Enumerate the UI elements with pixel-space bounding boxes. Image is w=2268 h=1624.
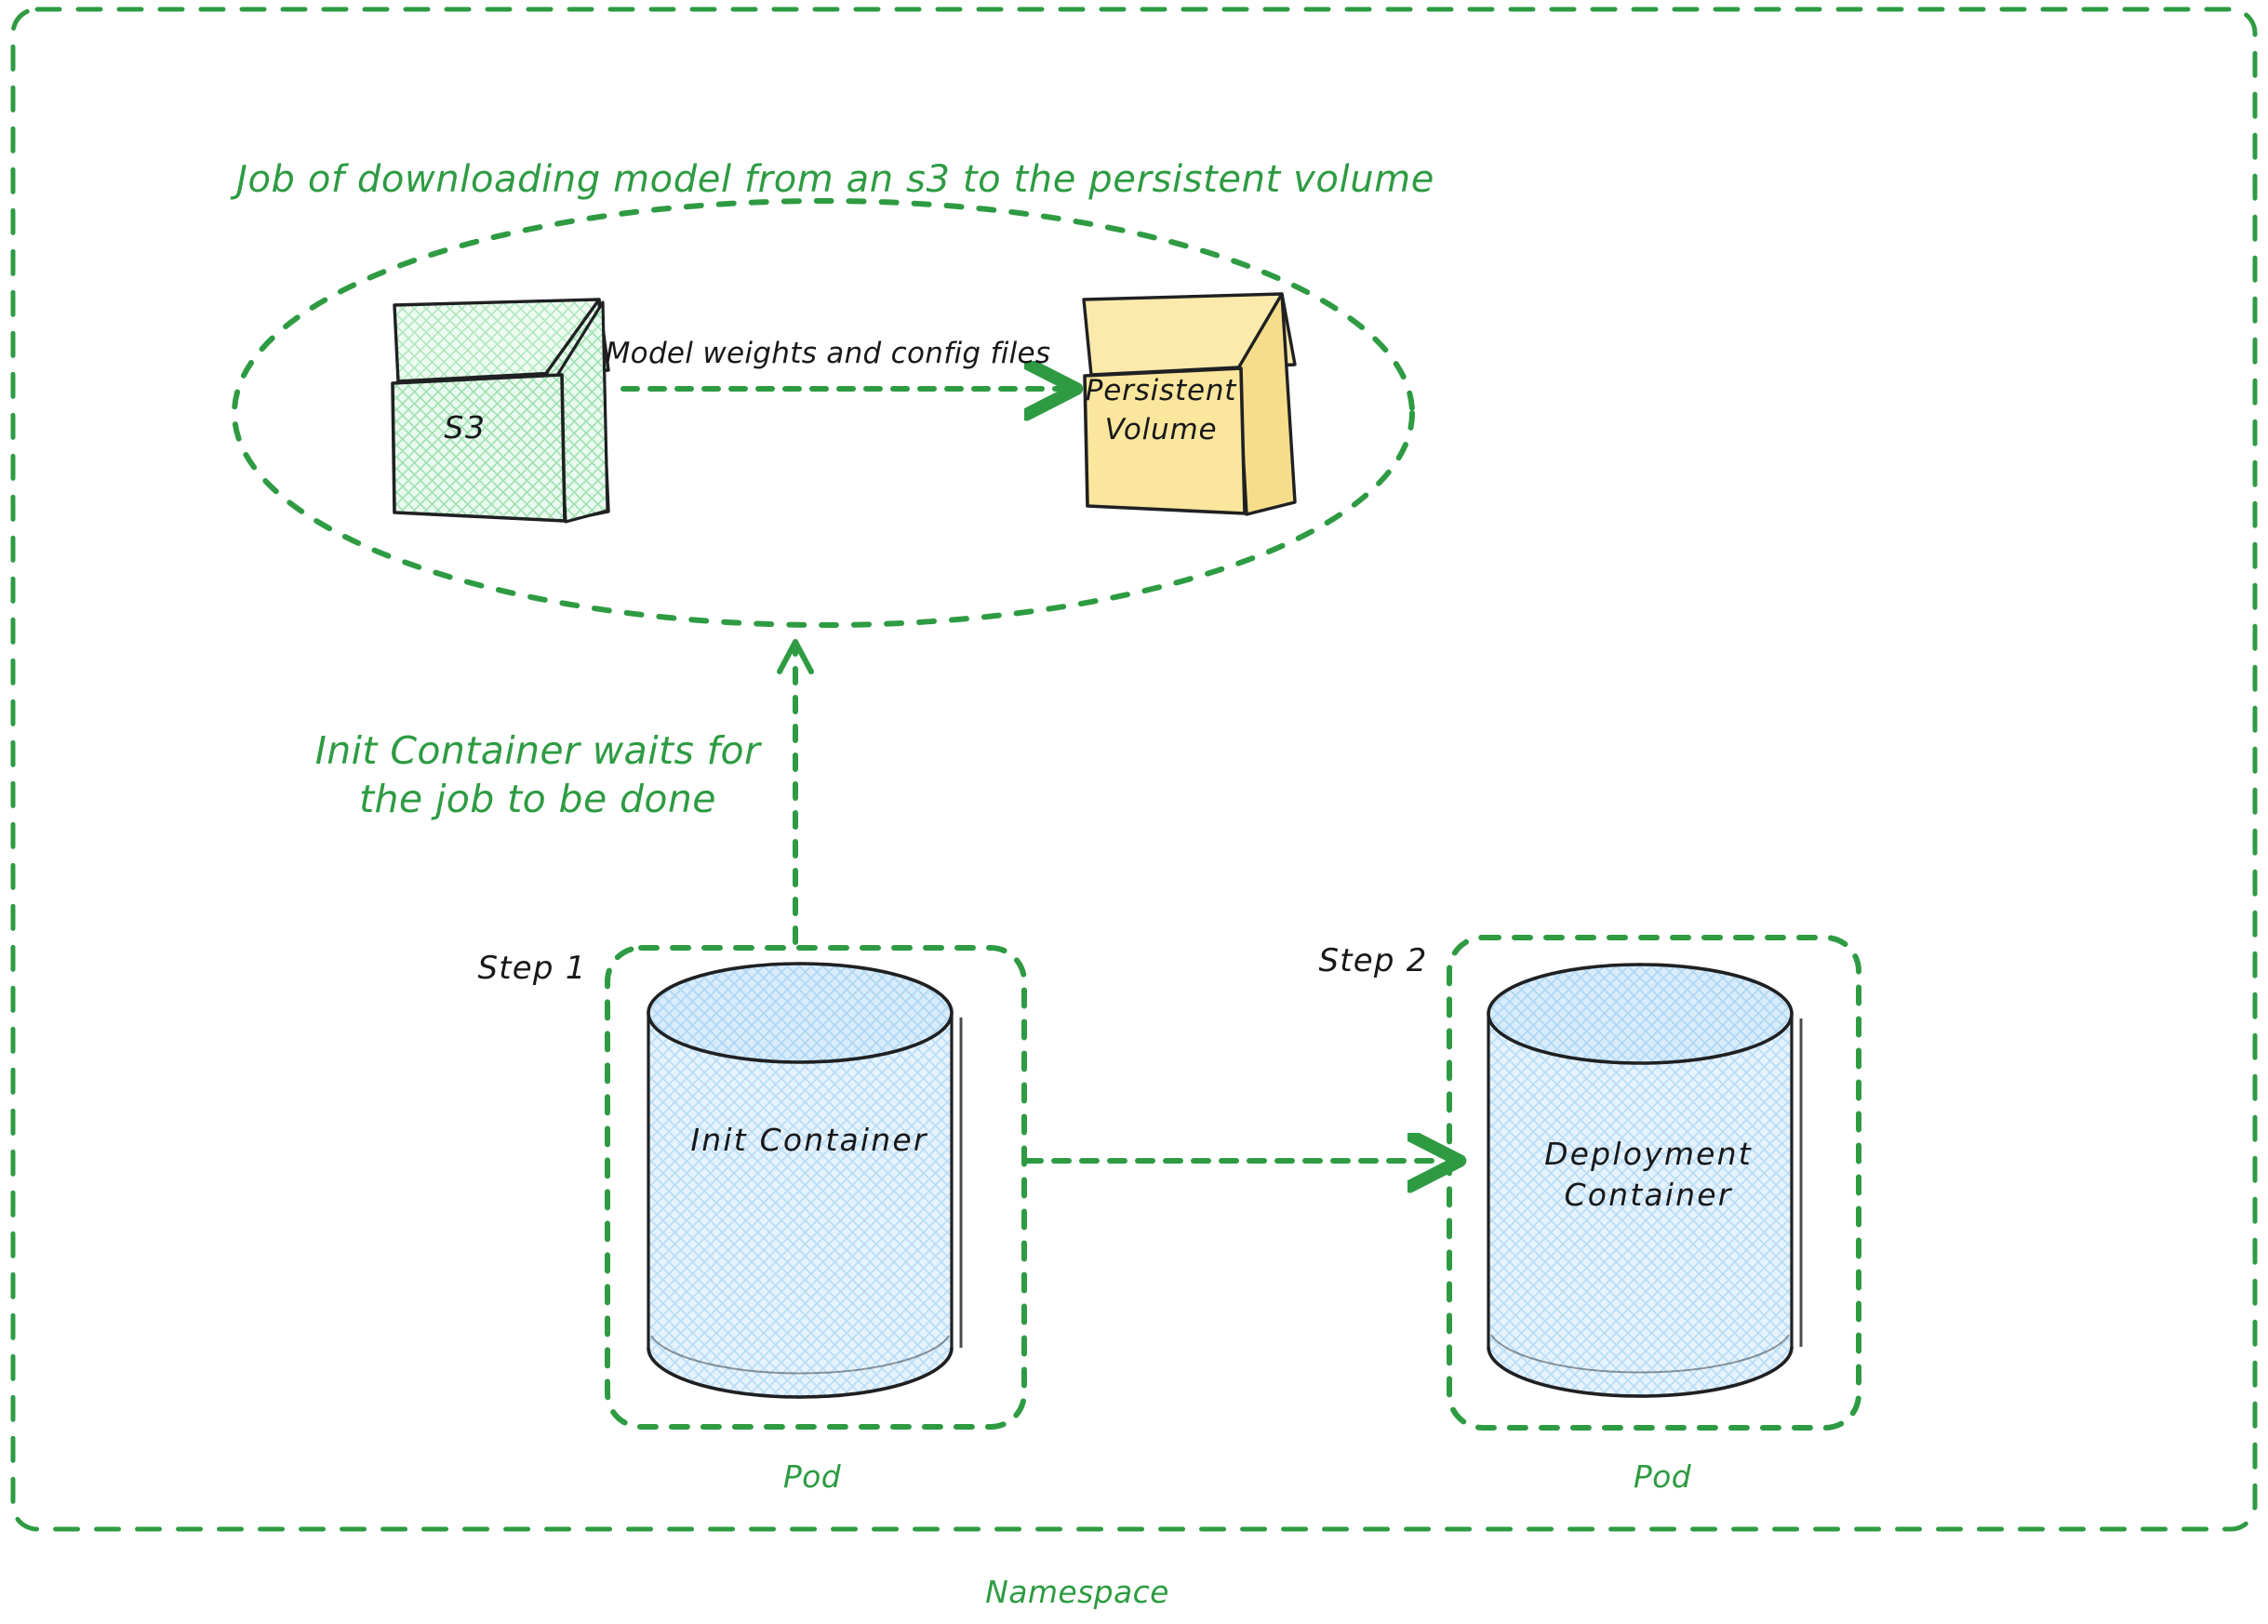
persistent-volume-label-line2: Volume xyxy=(1105,411,1218,449)
deployment-container-label-line1: Deployment xyxy=(1544,1135,1753,1175)
diagram-canvas: Job of downloading model from an s3 to t… xyxy=(0,0,2268,1624)
edge-label-init-waits-line1: Init Container waits for xyxy=(315,727,760,774)
s3-cube xyxy=(393,300,608,522)
job-group-title: Job of downloading model from an s3 to t… xyxy=(236,158,1434,201)
persistent-volume-label-line1: Persistent xyxy=(1086,372,1236,410)
s3-label: S3 xyxy=(444,409,486,446)
deployment-container-label-line2: Container xyxy=(1564,1176,1732,1216)
edge-label-model-weights: Model weights and config files xyxy=(606,337,1051,370)
init-container-label: Init Container xyxy=(690,1121,927,1161)
diagram-vector-layer xyxy=(0,0,2268,1624)
namespace-label: Namespace xyxy=(985,1574,1169,1610)
step-1-label: Step 1 xyxy=(477,950,586,987)
init-container-cylinder xyxy=(648,964,961,1397)
edge-label-init-waits-line2: the job to be done xyxy=(359,776,716,822)
pod-right-label: Pod xyxy=(1634,1458,1691,1495)
step-2-label: Step 2 xyxy=(1318,942,1427,979)
pod-left-label: Pod xyxy=(783,1458,841,1495)
